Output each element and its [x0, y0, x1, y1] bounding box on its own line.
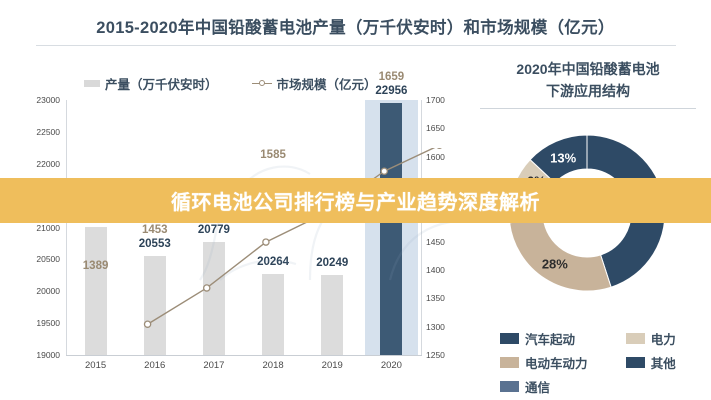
donut-legend-item-其他[interactable]: 其他 — [626, 353, 700, 372]
donut-legend-label: 其他 — [651, 353, 676, 372]
donut-legend-label: 通信 — [525, 377, 550, 396]
donut-legend-label: 汽车起动 — [525, 329, 575, 348]
donut-legend-item-汽车起动[interactable]: 汽车起动 — [500, 329, 612, 348]
donut-percent-电动车动力: 28% — [542, 256, 568, 271]
y-axis-left-tick: 20500 — [18, 254, 60, 264]
donut-legend-item-电动车动力[interactable]: 电动车动力 — [500, 353, 612, 372]
y-axis-left-tick: 23000 — [18, 95, 60, 105]
y-axis-left-tick: 20000 — [18, 286, 60, 296]
title-divider — [36, 45, 676, 46]
donut-legend-label: 电力 — [651, 329, 676, 348]
y-axis-left-tick: 22500 — [18, 127, 60, 137]
legend-item-production: 产量（万千伏安时） — [84, 74, 218, 93]
y-axis-left-tick: 22000 — [18, 159, 60, 169]
donut-legend-swatch-icon — [500, 333, 519, 344]
bar-value-2017: 20779 — [198, 224, 230, 236]
legend-item-market-size: 市场规模（亿元） — [252, 74, 377, 93]
bar-value-2020: 22956 — [375, 85, 407, 97]
donut-percent-其他: 13% — [550, 150, 576, 165]
donut-chart-title: 2020年中国铅酸蓄电池 下游应用结构 — [472, 58, 704, 102]
x-axis-tick-2015: 2015 — [85, 360, 106, 371]
plot-area — [66, 100, 421, 355]
donut-legend-item-通信[interactable]: 通信 — [500, 377, 612, 396]
donut-legend-swatch-icon — [626, 333, 645, 344]
legend-line-dot-icon — [252, 79, 272, 88]
y-axis-right-tick: 1700 — [426, 95, 466, 105]
bar-value-2018: 20264 — [257, 256, 289, 268]
y-axis-left-tick: 21000 — [18, 223, 60, 233]
donut-legend-swatch-icon — [500, 381, 519, 392]
donut-title-line2: 下游应用结构 — [472, 80, 704, 102]
donut-legend-item-电力[interactable]: 电力 — [626, 329, 700, 348]
bar-value-2016: 20553 — [139, 238, 171, 250]
bar-2015 — [85, 227, 107, 355]
combo-chart-legend: 产量（万千伏安时） 市场规模（亿元） — [84, 70, 414, 96]
y-axis-left-tick: 19500 — [18, 318, 60, 328]
donut-legend-swatch-icon — [626, 357, 645, 368]
line-value-2015: 1389 — [83, 260, 109, 272]
donut-legend: 汽车起动电力电动车动力其他通信 — [500, 329, 700, 396]
x-axis-tick-2018: 2018 — [263, 360, 284, 371]
x-axis-tick-2020: 2020 — [381, 360, 402, 371]
x-axis-tick-2017: 2017 — [203, 360, 224, 371]
x-axis-tick-2019: 2019 — [322, 360, 343, 371]
donut-slice-1 — [510, 219, 611, 291]
donut-title-divider — [480, 108, 696, 109]
legend-label-market-size: 市场规模（亿元） — [277, 74, 377, 93]
legend-label-production: 产量（万千伏安时） — [105, 74, 218, 93]
legend-bar-swatch-icon — [84, 80, 100, 87]
page-title: 2015-2020年中国铅酸蓄电池产量（万千伏安时）和市场规模（亿元） — [0, 14, 711, 38]
line-value-2019: 1659 — [379, 71, 405, 83]
line-value-2018: 1585 — [260, 149, 286, 161]
y-axis-left-tick: 19000 — [18, 350, 60, 360]
overlay-caption: 循环电池公司排行榜与产业趋势深度解析 — [0, 178, 711, 223]
y-axis-right-tick: 1650 — [426, 123, 466, 133]
donut-legend-swatch-icon — [500, 357, 519, 368]
donut-title-line1: 2020年中国铅酸蓄电池 — [516, 61, 659, 77]
bar-value-2019: 20249 — [316, 257, 348, 269]
donut-legend-label: 电动车动力 — [525, 353, 588, 372]
line-value-2016: 1453 — [142, 224, 168, 236]
x-axis-tick-2016: 2016 — [144, 360, 165, 371]
infographic-root: 2015-2020年中国铅酸蓄电池产量（万千伏安时）和市场规模（亿元） 产量（万… — [0, 0, 711, 400]
